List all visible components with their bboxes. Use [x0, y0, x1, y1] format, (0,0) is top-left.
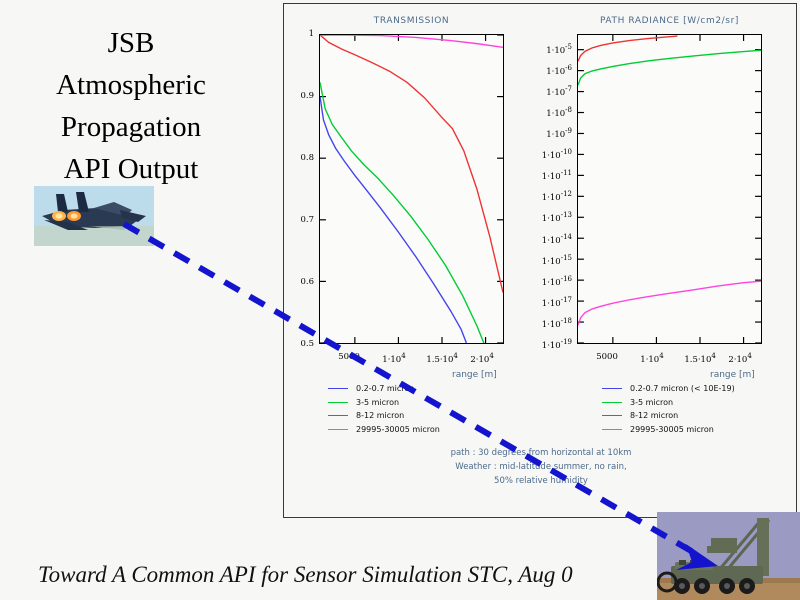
title-line-1: JSB — [0, 22, 262, 64]
axis-tick-label: 1·10-8 — [284, 106, 572, 119]
caption-path: path : 30 degrees from horizontal at 10k… — [284, 446, 798, 460]
legend-label: 8-12 micron — [630, 411, 678, 420]
path-radiance-legend: 0.2-0.7 micron (< 10E-19)3-5 micron8-12 … — [602, 382, 735, 436]
page-title: JSB Atmospheric Propagation API Output — [0, 22, 262, 190]
legend-item: 3-5 micron — [328, 396, 440, 410]
axis-tick-label: 2·104 — [728, 352, 751, 365]
axis-tick-label: 1·104 — [640, 352, 663, 365]
chart-series-line — [578, 36, 677, 61]
legend-label: 29995-30005 micron — [356, 425, 440, 434]
axis-tick-label: 1·10-10 — [284, 148, 572, 161]
legend-item: 29995-30005 micron — [328, 423, 440, 437]
legend-label: 3-5 micron — [630, 398, 673, 407]
axis-tick-label: 1·10-19 — [284, 338, 572, 351]
axis-tick-label: 1·10-14 — [284, 233, 572, 246]
fighter-jet-photo — [34, 186, 154, 246]
legend-color-swatch — [328, 415, 348, 416]
path-radiance-plot-area — [577, 34, 762, 344]
legend-color-swatch — [328, 388, 348, 389]
axis-tick-label: 1·10-13 — [284, 211, 572, 224]
legend-item: 29995-30005 micron — [602, 423, 735, 437]
path-radiance-xaxis-label: range [m] — [710, 370, 755, 380]
chart-panel: TRANSMISSION PATH RADIANCE [W/cm2/sr] ra… — [283, 3, 797, 518]
legend-item: 8-12 micron — [328, 409, 440, 423]
chart-series-line — [578, 281, 761, 325]
legend-label: 29995-30005 micron — [630, 425, 714, 434]
caption-weather: Weather : mid-latitude summer, no rain, — [284, 460, 798, 474]
axis-tick-label: 1·10-12 — [284, 190, 572, 203]
axis-tick-label: 1·10-11 — [284, 169, 572, 182]
slide-footer: Toward A Common API for Sensor Simulatio… — [38, 562, 758, 588]
legend-color-swatch — [602, 429, 622, 430]
axis-tick-label: 1·10-17 — [284, 296, 572, 309]
legend-label: 0.2-0.7 micron — [356, 384, 414, 393]
legend-label: 8-12 micron — [356, 411, 404, 420]
axis-tick-label: 1·10-5 — [284, 43, 572, 56]
axis-tick-label: 1·10-6 — [284, 64, 572, 77]
axis-tick-label: 1·10-9 — [284, 127, 572, 140]
axis-tick-label: 5000 — [338, 352, 360, 362]
legend-item: 8-12 micron — [602, 409, 735, 423]
legend-color-swatch — [602, 388, 622, 389]
axis-tick-label: 1·10-18 — [284, 317, 572, 330]
axis-tick-label: 1.5·104 — [684, 352, 716, 365]
legend-color-swatch — [328, 402, 348, 403]
axis-tick-label: 5000 — [596, 352, 618, 362]
axis-tick-label: 1.5·104 — [426, 352, 458, 365]
legend-item: 3-5 micron — [602, 396, 735, 410]
slide-canvas: JSB Atmospheric Propagation API Output T… — [0, 0, 800, 600]
title-line-4: API Output — [0, 148, 262, 190]
chart-title-path-radiance: PATH RADIANCE [W/cm2/sr] — [547, 16, 792, 26]
title-line-3: Propagation — [0, 106, 262, 148]
transmission-legend: 0.2-0.7 micron3-5 micron8-12 micron29995… — [328, 382, 440, 436]
transmission-xaxis-label: range [m] — [452, 370, 497, 380]
legend-label: 0.2-0.7 micron (< 10E-19) — [630, 384, 735, 393]
axis-tick-label: 1 — [284, 29, 314, 39]
caption-humidity: 50% relative humidity — [284, 474, 798, 488]
legend-item: 0.2-0.7 micron — [328, 382, 440, 396]
axis-tick-label: 1·10-15 — [284, 254, 572, 267]
axis-tick-label: 2·104 — [470, 352, 493, 365]
chart-title-transmission: TRANSMISSION — [289, 16, 534, 26]
legend-item: 0.2-0.7 micron (< 10E-19) — [602, 382, 735, 396]
axis-tick-label: 1·10-16 — [284, 275, 572, 288]
legend-color-swatch — [602, 402, 622, 403]
legend-color-swatch — [602, 415, 622, 416]
title-line-2: Atmospheric — [0, 64, 262, 106]
legend-color-swatch — [328, 429, 348, 430]
axis-tick-label: 1·10-7 — [284, 85, 572, 98]
legend-label: 3-5 micron — [356, 398, 399, 407]
chart-series-line — [578, 50, 761, 85]
axis-tick-label: 1·104 — [382, 352, 405, 365]
conditions-caption: path : 30 degrees from horizontal at 10k… — [284, 446, 798, 488]
